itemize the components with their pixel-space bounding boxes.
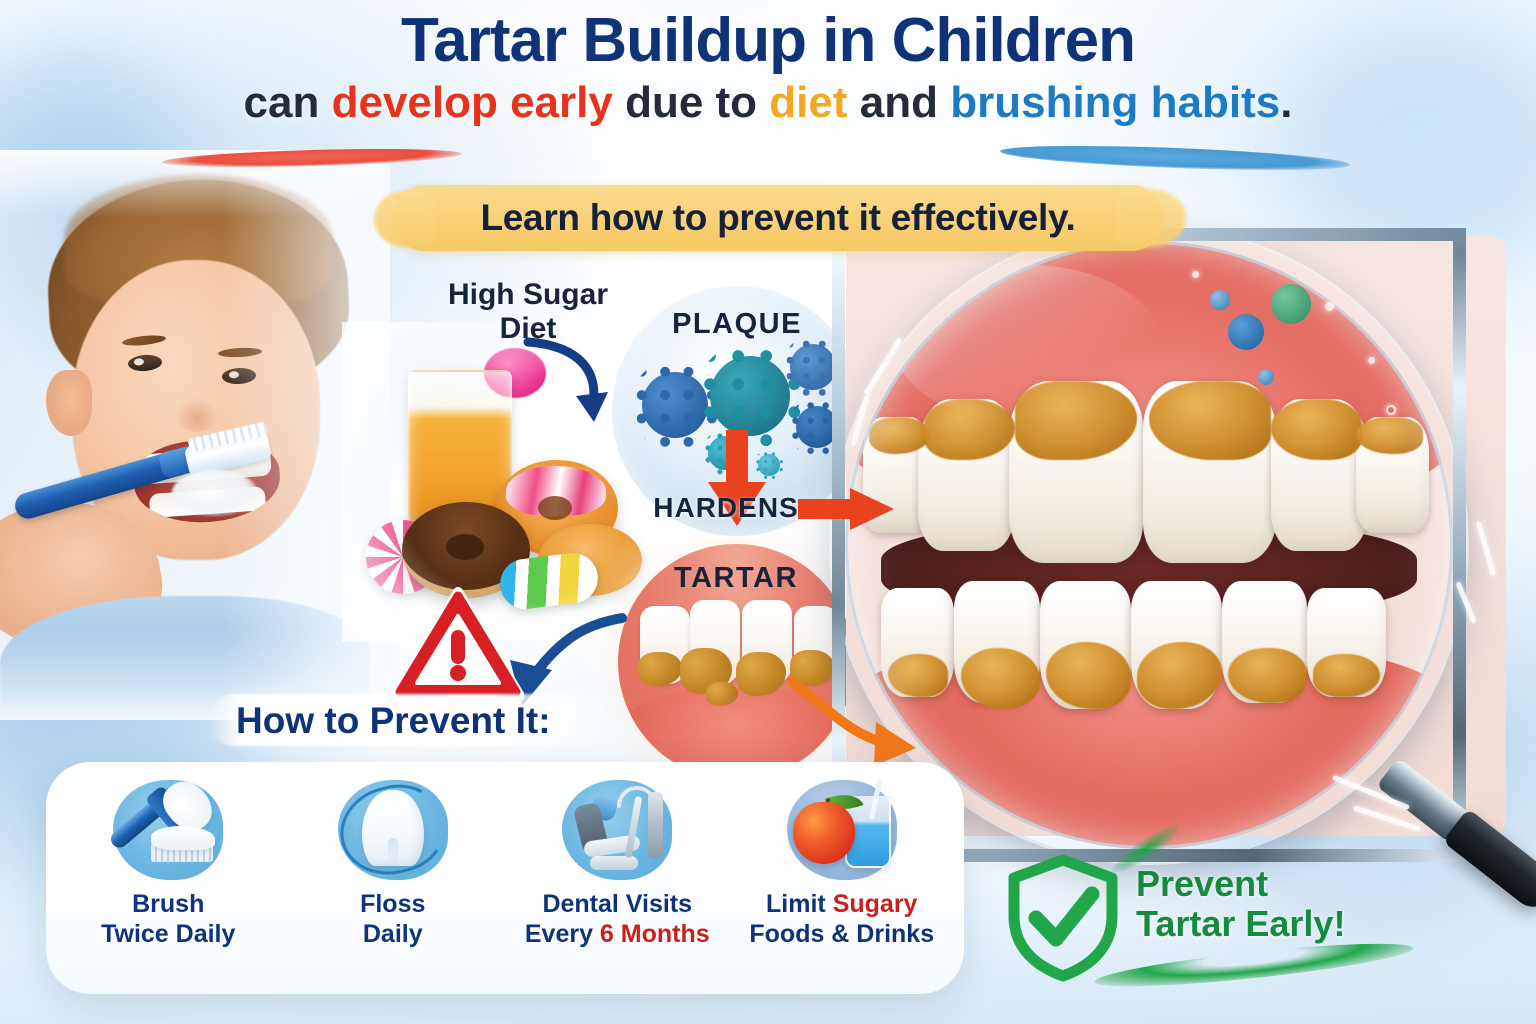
blue-brush-stroke: [1000, 141, 1351, 174]
tip-line-1: Brush: [61, 890, 275, 920]
tip-line-2: Twice Daily: [61, 920, 275, 950]
tip-line-2: Daily: [286, 920, 500, 950]
prevent-heading: How to Prevent It:: [236, 700, 551, 742]
prevention-tips-card: Brush Twice Daily Floss Daily: [46, 762, 964, 994]
tip-line-2: Every 6 Months: [510, 920, 724, 950]
tip-line-2-highlight: 6 Months: [600, 920, 710, 948]
subtitle-part-plain: due to: [613, 78, 769, 127]
dental-drill: [648, 792, 663, 858]
bubble: [1368, 357, 1375, 364]
tip-line-1: Limit Sugary: [735, 890, 949, 920]
subtitle-part-develop-early: develop early: [332, 78, 613, 127]
tartar-label: TARTAR: [618, 562, 854, 595]
title-block: Tartar Buildup in Children can develop e…: [0, 8, 1536, 127]
curved-arrow-to-sweets-icon: [520, 330, 630, 440]
tooth-floss-icon: [332, 776, 454, 886]
plaque-label: PLAQUE: [612, 308, 862, 341]
apple: [793, 802, 855, 864]
bacteria-icon: [1228, 314, 1264, 350]
photo-edge-fade: [0, 150, 390, 720]
tip-line-2: Foods & Drinks: [735, 920, 949, 950]
bacteria-icon: [710, 356, 790, 436]
toothpaste-blob: [151, 826, 215, 850]
tip-line-2-prefix: Every: [525, 920, 600, 948]
boy-brushing-photo: [0, 150, 390, 720]
subtitle-part-period: .: [1280, 78, 1292, 127]
red-right-arrow-icon: [798, 486, 894, 532]
prevent-tartar-badge: Prevent Tartar Early!: [1000, 846, 1420, 994]
warning-triangle-icon: [392, 586, 524, 704]
tip-floss-daily[interactable]: Floss Daily: [286, 776, 500, 949]
tooth-shape: [362, 790, 424, 866]
hardens-label: HARDENS: [626, 492, 826, 524]
shield-check-icon: [1004, 854, 1122, 982]
high-sugar-diet-line1: High Sugar: [428, 278, 628, 312]
bacteria-icon: [1210, 290, 1230, 310]
tartar-deposit: [1228, 648, 1307, 703]
tip-line-1-prefix: Limit: [766, 890, 833, 918]
bacteria-icon: [790, 344, 836, 390]
subtitle-part-plain: and: [848, 78, 951, 127]
dental-chair-icon: [556, 776, 678, 886]
tip-label: Dental Visits Every 6 Months: [510, 890, 724, 949]
toothbrush-icon: [107, 776, 229, 886]
subtitle-part-diet: diet: [769, 78, 847, 127]
bubble: [1192, 271, 1199, 278]
badge-line-2: Tartar Early!: [1136, 904, 1436, 944]
tip-limit-sugary[interactable]: Limit Sugary Foods & Drinks: [735, 776, 949, 949]
orange-curved-arrow-icon: [788, 678, 918, 770]
tip-line-1: Dental Visits: [510, 890, 724, 920]
subtitle-part-plain: can: [244, 78, 332, 127]
tartar-deposit: [1356, 417, 1423, 453]
apple-water-icon: [781, 776, 903, 886]
chair-base: [590, 856, 638, 870]
tip-label: Floss Daily: [286, 890, 500, 949]
infographic-poster: Tartar Buildup in Children can develop e…: [0, 0, 1536, 1024]
learn-banner: Learn how to prevent it effectively.: [392, 185, 1164, 251]
badge-text: Prevent Tartar Early!: [1136, 864, 1436, 945]
tartar-deposit: [1149, 381, 1271, 460]
tip-dental-visits[interactable]: Dental Visits Every 6 Months: [510, 776, 724, 949]
page-title: Tartar Buildup in Children: [0, 8, 1536, 73]
magnifier-lens-content: [845, 241, 1453, 849]
tip-line-1: Floss: [286, 890, 500, 920]
page-subtitle: can develop early due to diet and brushi…: [0, 79, 1536, 127]
subtitle-part-brushing-habits: brushing habits: [950, 78, 1280, 127]
tip-label: Limit Sugary Foods & Drinks: [735, 890, 949, 949]
bacteria-icon: [1271, 284, 1311, 324]
tip-line-1-highlight: Sugary: [833, 890, 918, 918]
badge-line-1: Prevent: [1136, 864, 1436, 904]
tip-brush-twice-daily[interactable]: Brush Twice Daily: [61, 776, 275, 949]
tip-label: Brush Twice Daily: [61, 890, 275, 949]
banner-text: Learn how to prevent it effectively.: [480, 197, 1075, 239]
